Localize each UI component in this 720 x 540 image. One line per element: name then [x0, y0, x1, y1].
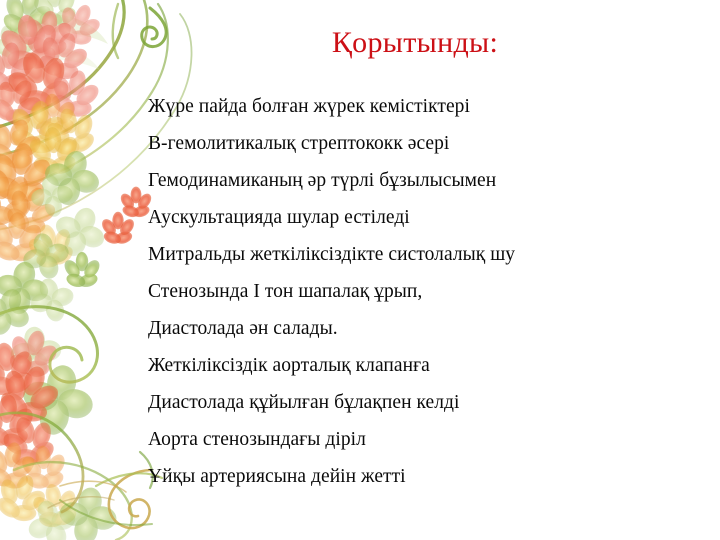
hanging-flower-green: [61, 252, 102, 289]
body-line: Ұйқы артериясына дейін жетті: [148, 458, 708, 495]
slide-body-text: Жүре пайда болған жүрек кемістіктері В-г…: [148, 88, 708, 495]
hanging-flower-orange-lower: [99, 212, 137, 246]
body-line: Стенозында I тон шапалақ ұрып,: [148, 273, 708, 310]
slide-canvas: Қорытынды: Жүре пайда болған жүрек кеміс…: [0, 0, 720, 540]
vine-swirl-group-bottom: [0, 307, 162, 540]
body-line: Жүре пайда болған жүрек кемістіктері: [148, 88, 708, 125]
hanging-flower-strings: [82, 36, 136, 264]
body-line: Аорта стенозындағы діріл: [148, 421, 708, 458]
body-line: Гемодинамиканың әр түрлі бұзылысымен: [148, 162, 708, 199]
flower-cluster-top: [0, 0, 108, 142]
body-line: Жеткіліксіздік аорталық клапанға: [148, 347, 708, 384]
flower-cluster-middle: [0, 95, 113, 284]
body-line: Диастолада құйылған бұлақпен келді: [148, 384, 708, 421]
body-line: Диастолада ән салады.: [148, 310, 708, 347]
slide-title: Қорытынды:: [155, 25, 675, 61]
body-line: Митральды жеткіліксіздікте систолалық шу: [148, 236, 708, 273]
flower-cluster-lower: [0, 257, 120, 540]
body-line: В-гемолитикалық стрептококк әсері: [148, 125, 708, 162]
body-line: Аускультацияда шулар естіледі: [148, 199, 708, 236]
